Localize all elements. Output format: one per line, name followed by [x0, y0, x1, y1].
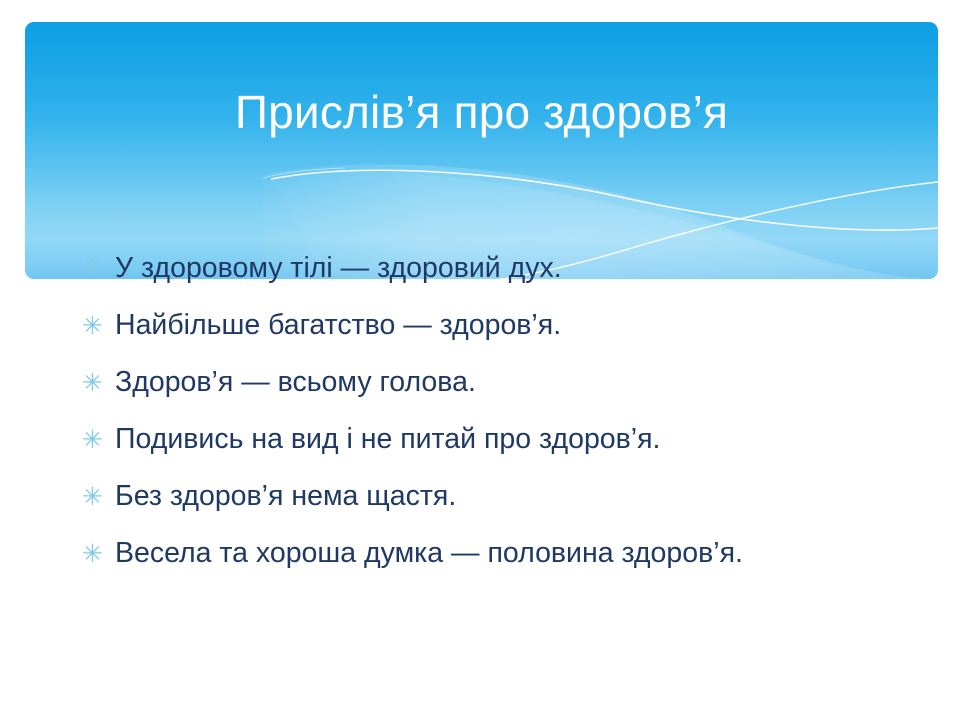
asterisk-bullet-icon: ✳ — [82, 305, 115, 346]
list-item-text: Без здоров’я нема щастя. — [115, 476, 456, 517]
list-item: ✳ Без здоров’я нема щастя. — [82, 476, 942, 533]
slide-title: Прислів’я про здоров’я — [25, 86, 938, 139]
list-item-text: У здоровому тілі — здоровий дух. — [115, 248, 562, 289]
list-item: ✳ Здоров’я — всьому голова. — [82, 362, 942, 419]
presentation-slide: Прислів’я про здоров’я ✳ У здоровому тіл… — [0, 0, 960, 720]
list-item-text: Подивись на вид і не питай про здоров’я. — [115, 419, 660, 460]
list-item: ✳ У здоровому тілі — здоровий дух. — [82, 248, 942, 305]
bullet-list: ✳ У здоровому тілі — здоровий дух. ✳ Най… — [82, 248, 942, 590]
list-item-text: Найбільше багатство — здоров’я. — [115, 305, 561, 346]
title-banner: Прислів’я про здоров’я — [25, 22, 938, 279]
asterisk-bullet-icon: ✳ — [82, 362, 115, 403]
list-item: ✳ Весела та хороша думка — половина здор… — [82, 533, 942, 590]
asterisk-bullet-icon: ✳ — [82, 248, 115, 289]
list-item: ✳ Найбільше багатство — здоров’я. — [82, 305, 942, 362]
list-item-text: Весела та хороша думка — половина здоров… — [115, 533, 743, 574]
asterisk-bullet-icon: ✳ — [82, 476, 115, 517]
list-item: ✳ Подивись на вид і не питай про здоров’… — [82, 419, 942, 476]
asterisk-bullet-icon: ✳ — [82, 419, 115, 460]
list-item-text: Здоров’я — всьому голова. — [115, 362, 476, 403]
decorative-swoosh-graphic — [25, 22, 938, 279]
asterisk-bullet-icon: ✳ — [82, 533, 115, 574]
